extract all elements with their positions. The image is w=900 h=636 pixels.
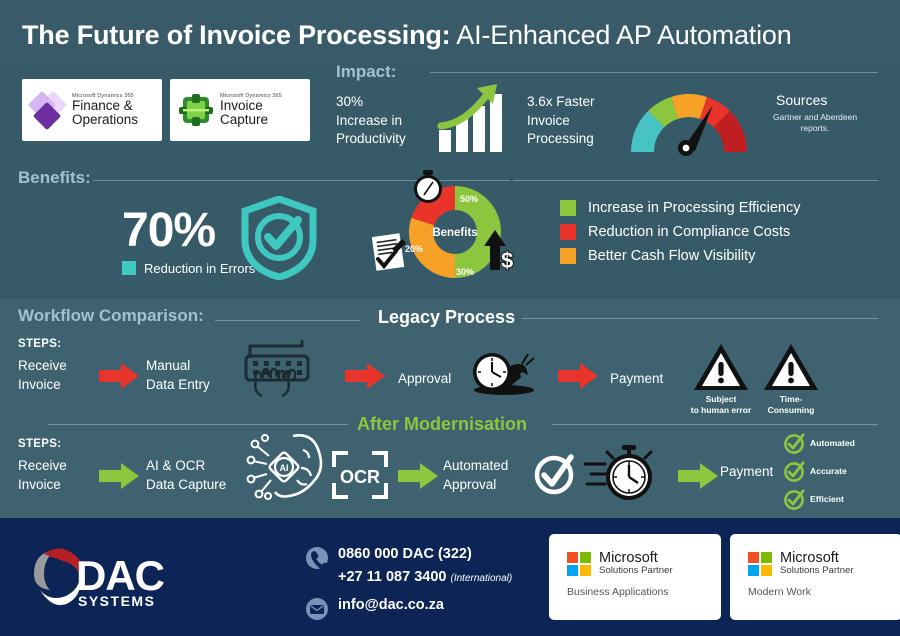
modern-divider-right [552, 424, 878, 425]
legacy-process-title: Legacy Process [378, 307, 515, 328]
circle-check-icon [533, 451, 575, 497]
impact-divider [430, 72, 878, 73]
logo-line2-ic: Capture [220, 113, 282, 127]
page-title: The Future of Invoice Processing: AI-Enh… [22, 20, 792, 51]
fast-stopwatch-icon [583, 444, 655, 504]
microsoft-logo-icon [567, 552, 591, 576]
benefit-percentage-label: Reduction in Errors [144, 261, 255, 276]
legend-swatch-orange [560, 248, 576, 264]
modern-divider-left [48, 424, 348, 425]
page-title-bold: The Future of Invoice Processing: [22, 20, 450, 50]
check-circle-icon [783, 460, 805, 482]
modern-benefit-label-0: Automated [810, 438, 855, 448]
footer-email[interactable]: info@dac.co.za [338, 597, 444, 613]
legacy-step1-l2: Invoice [18, 376, 67, 395]
legacy-arrow-3-icon [558, 363, 598, 389]
ms-tier-1: Solutions Partner [780, 566, 854, 576]
benefits-divider-left [93, 180, 510, 181]
modern-step2-l2: Data Capture [146, 476, 226, 495]
impact-stat-speed-l3: Processing [527, 130, 595, 149]
footer-phone-intl-number: +27 11 087 3400 [338, 569, 446, 585]
impact-stat-speed-l2: Invoice [527, 112, 595, 131]
impact-stat-speed: 3.6x Faster Invoice Processing [527, 93, 595, 149]
dollar-growth-arrow-icon: $ [478, 226, 514, 272]
legend-label-2: Better Cash Flow Visibility [588, 248, 755, 264]
after-modernisation-title: After Modernisation [357, 414, 527, 435]
legacy-arrow-1-icon [99, 363, 139, 389]
modern-benefit-label-1: Accurate [810, 466, 847, 476]
benefits-legend: Increase in Processing Efficiency Reduct… [560, 196, 801, 268]
sources-subtext: Gartner and Aberdeen reports. [772, 112, 858, 135]
ai-brain-circuit-icon: AI [243, 428, 327, 504]
ocr-scan-icon: OCR [332, 451, 388, 499]
modern-step1-l1: Receive [18, 457, 67, 476]
impact-stat-productivity-l2: Increase in [336, 112, 406, 131]
benefits-heading: Benefits: [18, 168, 91, 188]
modern-step3-l1: Automated [443, 457, 508, 476]
modern-step2-l1: AI & OCR [146, 457, 226, 476]
logo-line1-ic: Invoice [220, 99, 282, 113]
modern-arrow-2-icon [398, 463, 438, 489]
keyboard-typing-icon [230, 336, 320, 398]
modern-step1-l2: Invoice [18, 476, 67, 495]
modern-step-receive-invoice: Receive Invoice [18, 457, 67, 494]
footer-phone-international[interactable]: +27 11 087 3400 (International) [338, 569, 512, 585]
dynamics-invoice-capture-icon [178, 94, 214, 126]
warning-triangle-icon [692, 342, 750, 392]
dynamics-finance-operations-icon [30, 92, 66, 128]
svg-text:OCR: OCR [340, 467, 380, 487]
legacy-step-manual-data-entry: Manual Data Entry [146, 357, 210, 394]
envelope-icon [306, 598, 328, 620]
check-circle-icon [783, 488, 805, 510]
legacy-step-receive-invoice: Receive Invoice [18, 357, 67, 394]
legend-label-0: Increase in Processing Efficiency [588, 200, 801, 216]
legacy-step-approval: Approval [398, 370, 451, 389]
svg-text:AI: AI [280, 463, 289, 473]
phone-icon [306, 547, 328, 569]
footer-phone-local[interactable]: 0860 000 DAC (322) [338, 546, 472, 562]
logo-line2-fo: Operations [72, 113, 138, 127]
legend-swatch-red [560, 224, 576, 240]
legacy-warning-2-l2: Consuming [748, 405, 834, 416]
donut-center-label: Benefits [432, 227, 477, 239]
legacy-step2-l1: Manual [146, 357, 210, 376]
microsoft-logo-icon [748, 552, 772, 576]
benefits-divider-right [513, 180, 878, 181]
benefit-percentage: 70% [122, 203, 215, 258]
donut-value-0: 50% [460, 194, 478, 204]
legend-swatch-green [560, 200, 576, 216]
page-title-light: AI-Enhanced AP Automation [450, 20, 791, 50]
snail-clock-icon [470, 348, 538, 396]
legacy-divider [522, 318, 878, 319]
ms-category-1: Modern Work [730, 576, 900, 598]
legacy-step1-l1: Receive [18, 357, 67, 376]
modern-benefit-label-2: Efficient [810, 494, 844, 504]
footer-phone-intl-note: (International) [451, 573, 513, 584]
modern-step-automated-approval: Automated Approval [443, 457, 508, 494]
donut-value-1: 30% [456, 267, 474, 277]
microsoft-partner-card-business-applications: Microsoft Solutions Partner Business App… [549, 534, 721, 620]
impact-stat-productivity-l3: Productivity [336, 130, 406, 149]
infographic-page: The Future of Invoice Processing: AI-Enh… [0, 0, 900, 636]
modern-step-payment: Payment [720, 463, 773, 482]
legacy-arrow-2-icon [345, 363, 385, 389]
modern-benefit-accurate: Accurate [783, 460, 847, 482]
logo-line1-fo: Finance & [72, 99, 138, 113]
modern-arrow-3-icon [678, 463, 718, 489]
legend-label-1: Reduction in Compliance Costs [588, 224, 790, 240]
growth-bar-chart-icon [437, 82, 509, 152]
benefit-percentage-swatch [122, 261, 136, 275]
modern-step-ai-ocr-capture: AI & OCR Data Capture [146, 457, 226, 494]
document-check-icon [372, 233, 408, 271]
modern-steps-label: STEPS: [18, 438, 61, 450]
ms-category-0: Business Applications [549, 576, 721, 598]
modern-benefit-automated: Automated [783, 432, 855, 454]
speed-gauge-icon [625, 86, 753, 156]
shield-check-icon [240, 196, 318, 280]
legend-item: Reduction in Compliance Costs [560, 220, 801, 244]
header-bar: The Future of Invoice Processing: AI-Enh… [0, 0, 900, 62]
impact-stat-speed-l1: 3.6x Faster [527, 93, 595, 112]
ms-brand-1: Microsoft [780, 551, 854, 566]
logo-card-finance-operations: Microsoft Dynamics 365 Finance & Operati… [22, 79, 162, 141]
microsoft-partner-card-modern-work: Microsoft Solutions Partner Modern Work [730, 534, 900, 620]
legend-item: Better Cash Flow Visibility [560, 244, 801, 268]
modern-arrow-1-icon [99, 463, 139, 489]
ms-brand-0: Microsoft [599, 551, 673, 566]
legacy-warning-label-2: Time- Consuming [748, 394, 834, 416]
legacy-step-payment: Payment [610, 370, 663, 389]
ms-tier-0: Solutions Partner [599, 566, 673, 576]
warning-triangle-icon [762, 342, 820, 392]
impact-stat-productivity-l1: 30% [336, 93, 406, 112]
modern-benefit-efficient: Efficient [783, 488, 844, 510]
impact-stat-productivity: 30% Increase in Productivity [336, 93, 406, 149]
svg-text:DAC: DAC [76, 552, 165, 599]
logo-card-invoice-capture: Microsoft Dynamics 365 Invoice Capture [170, 79, 310, 141]
legend-item: Increase in Processing Efficiency [560, 196, 801, 220]
modern-step3-l2: Approval [443, 476, 508, 495]
dac-systems-logo: DAC SYSTEMS [22, 538, 182, 612]
svg-text:$: $ [501, 248, 513, 272]
sources-title: Sources [776, 92, 827, 108]
svg-text:SYSTEMS: SYSTEMS [78, 593, 155, 609]
workflow-divider [215, 320, 360, 321]
legacy-step2-l2: Data Entry [146, 376, 210, 395]
stopwatch-icon [411, 170, 445, 204]
impact-heading: Impact: [336, 62, 396, 82]
workflow-heading: Workflow Comparison: [18, 306, 204, 326]
legacy-warning-2-l1: Time- [748, 394, 834, 405]
check-circle-icon [783, 432, 805, 454]
legacy-steps-label: STEPS: [18, 338, 61, 350]
